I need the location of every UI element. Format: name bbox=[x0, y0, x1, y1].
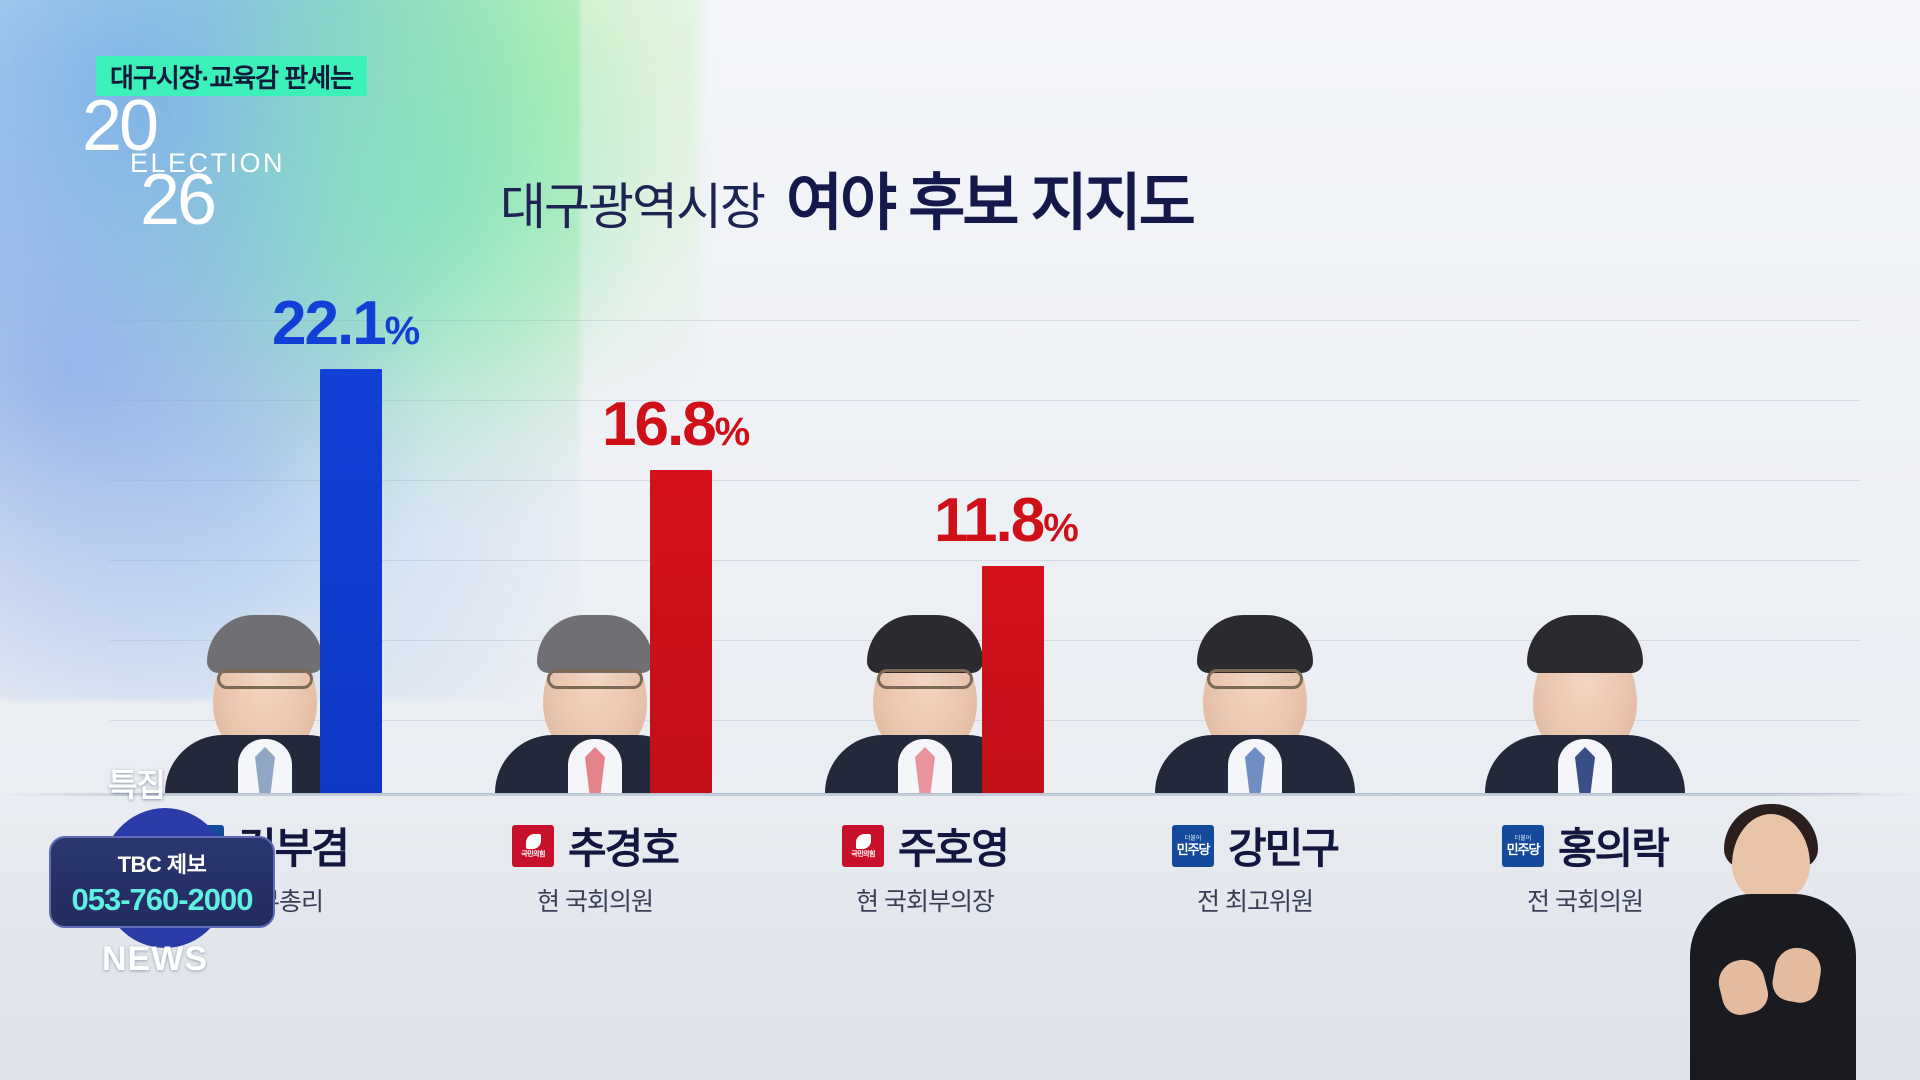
bar-추경호 bbox=[650, 470, 712, 793]
special-label: 특집 bbox=[108, 760, 165, 806]
candidate-title: 현 국회부의장 bbox=[856, 882, 994, 918]
candidate-name-row: 더불어민주당홍의락 bbox=[1502, 815, 1668, 876]
candidate-name-row: 국민의힘주호영 bbox=[842, 815, 1008, 876]
percent-sign: % bbox=[1043, 506, 1077, 550]
glasses-icon bbox=[217, 669, 313, 689]
ppp-leaf-icon bbox=[526, 834, 541, 849]
candidate-name: 주호영 bbox=[898, 815, 1008, 876]
percent-sign: % bbox=[385, 309, 419, 353]
photo-hair bbox=[207, 615, 323, 673]
tip-label: TBC 제보 bbox=[118, 847, 207, 879]
candidate-card-2[interactable]: 국민의힘추경호현 국회의원 bbox=[430, 815, 760, 918]
candidate-card-3[interactable]: 국민의힘주호영현 국회부의장 bbox=[760, 815, 1090, 918]
candidate-photo bbox=[1480, 608, 1690, 793]
candidate-name-row: 국민의힘추경호 bbox=[512, 815, 678, 876]
candidate-photo bbox=[1150, 608, 1360, 793]
party-badge-dem: 더불어민주당 bbox=[1502, 825, 1544, 867]
value-number: 22.1 bbox=[272, 289, 385, 358]
sign-language-interpreter bbox=[1678, 810, 1868, 1080]
candidate-title: 전 국회의원 bbox=[1527, 882, 1643, 918]
candidate-name: 홍의락 bbox=[1558, 815, 1668, 876]
tip-phone: 053-760-2000 bbox=[71, 882, 252, 918]
party-badge-ppp: 국민의힘 bbox=[512, 825, 554, 867]
value-number: 16.8 bbox=[602, 390, 715, 459]
chart-column-2: 16.8% bbox=[430, 0, 760, 1080]
glasses-icon bbox=[1207, 669, 1303, 689]
value-label-김부겸: 22.1% bbox=[272, 293, 418, 355]
candidate-name: 강민구 bbox=[1228, 815, 1338, 876]
party-badge-dem: 더불어민주당 bbox=[1172, 825, 1214, 867]
ppp-leaf-icon bbox=[856, 834, 871, 849]
party-badge-label: 국민의힘 bbox=[521, 851, 545, 858]
value-label-주호영: 11.8% bbox=[934, 490, 1077, 552]
party-badge-ppp: 국민의힘 bbox=[842, 825, 884, 867]
glasses-icon bbox=[547, 669, 643, 689]
candidate-name-row: 더불어민주당강민구 bbox=[1172, 815, 1338, 876]
photo-hair bbox=[867, 615, 983, 673]
party-badge-label: 민주당 bbox=[1507, 843, 1540, 856]
candidate-card-4[interactable]: 더불어민주당강민구전 최고위원 bbox=[1090, 815, 1420, 918]
chart-column-3: 11.8% bbox=[760, 0, 1090, 1080]
bar-김부겸 bbox=[320, 369, 382, 793]
tbc-station-bug: 특집 TBC 제보 053-760-2000 NEWS bbox=[40, 770, 290, 1000]
photo-hair bbox=[1527, 615, 1643, 673]
candidate-title: 전 최고위원 bbox=[1197, 882, 1313, 918]
party-badge-label: 국민의힘 bbox=[851, 851, 875, 858]
photo-hair bbox=[1197, 615, 1313, 673]
value-label-추경호: 16.8% bbox=[602, 394, 748, 456]
party-badge-top: 더불어 bbox=[1515, 836, 1532, 842]
party-badge-top: 더불어 bbox=[1185, 836, 1202, 842]
candidate-name: 추경호 bbox=[568, 815, 678, 876]
party-badge-label: 민주당 bbox=[1177, 843, 1210, 856]
percent-sign: % bbox=[715, 410, 749, 454]
value-number: 11.8 bbox=[934, 486, 1043, 555]
chart-column-4 bbox=[1090, 0, 1420, 1080]
bar-주호영 bbox=[982, 566, 1044, 793]
photo-hair bbox=[537, 615, 653, 673]
candidate-title: 현 국회의원 bbox=[537, 882, 653, 918]
news-label: NEWS bbox=[102, 940, 208, 979]
tip-line-plate: TBC 제보 053-760-2000 bbox=[49, 836, 275, 928]
glasses-icon bbox=[877, 669, 973, 689]
